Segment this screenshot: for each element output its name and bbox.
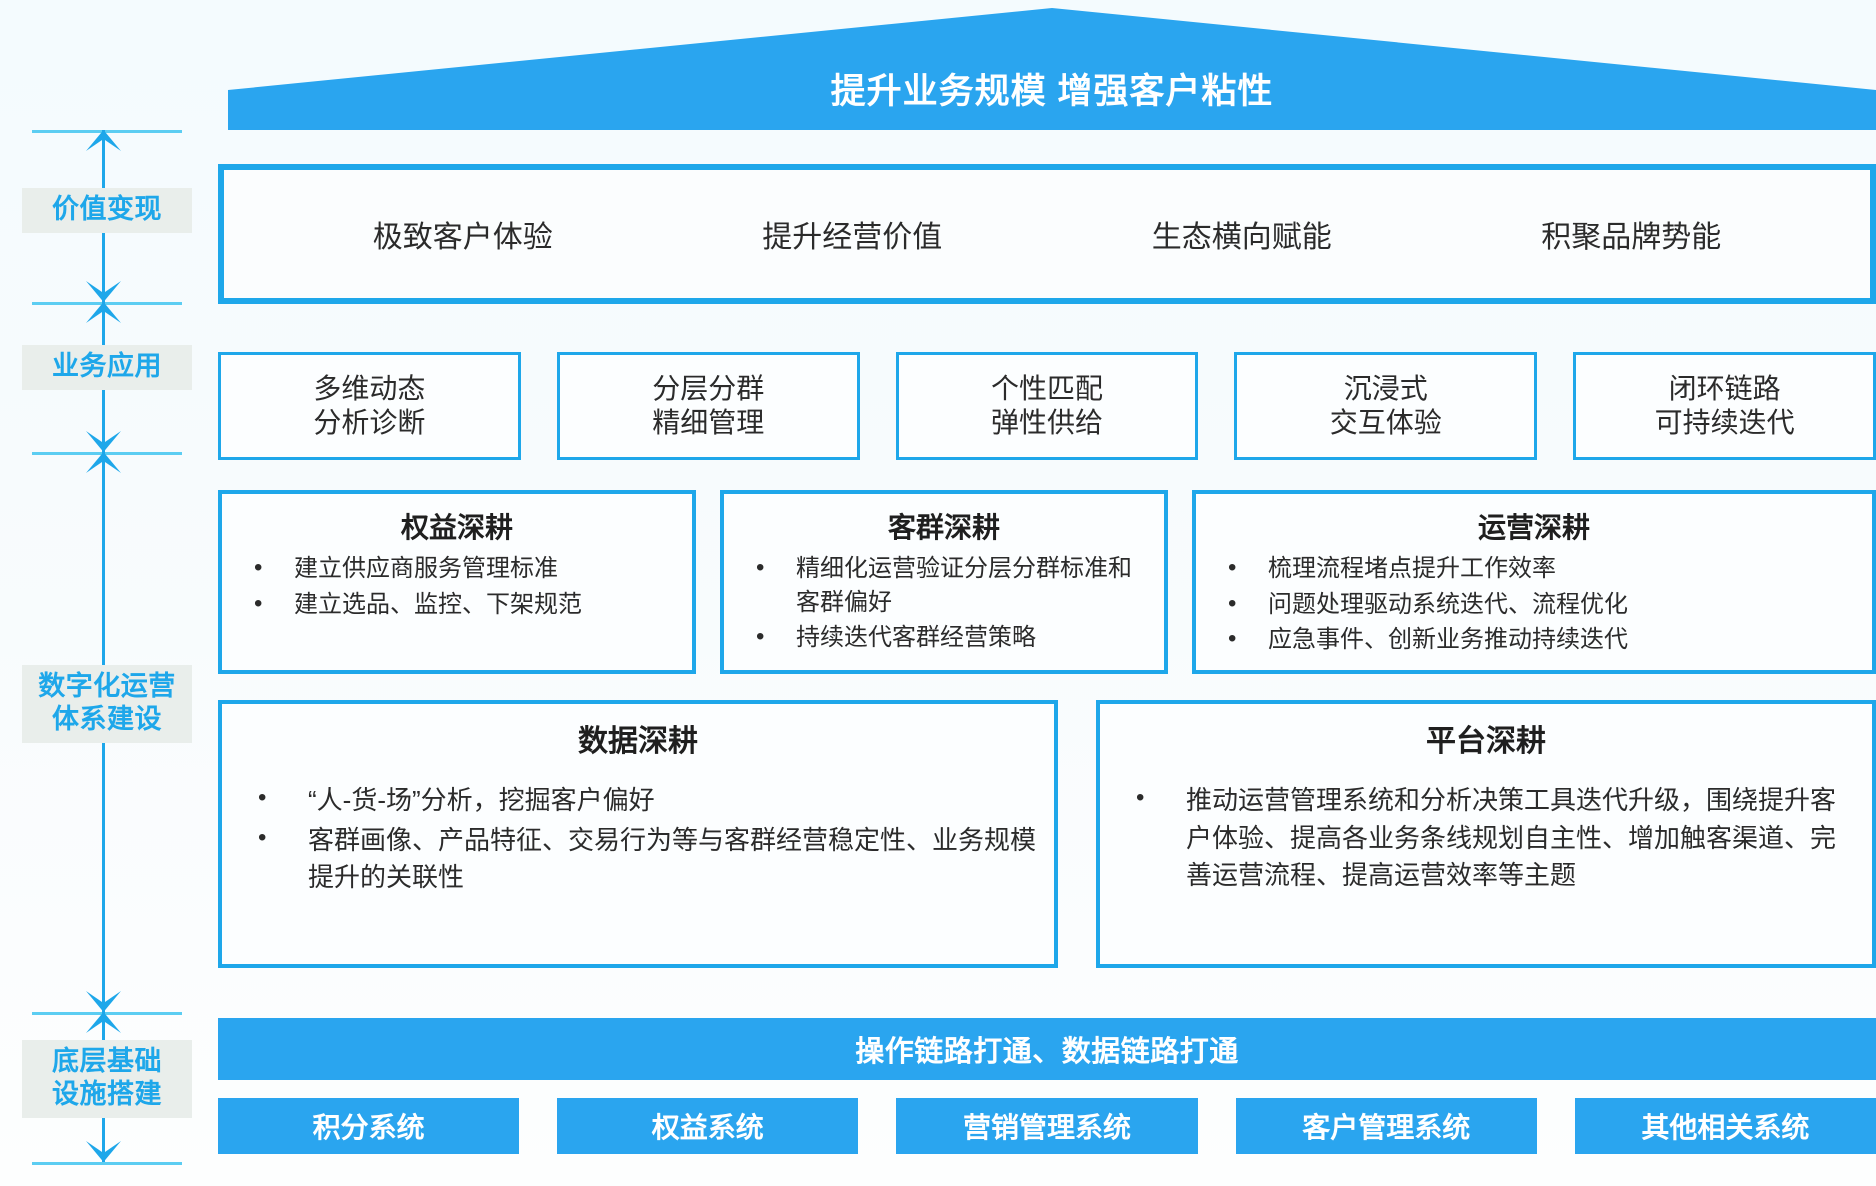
system-chip-row: 积分系统 权益系统 营销管理系统 客户管理系统 其他相关系统 xyxy=(218,1098,1876,1154)
arrow-down-icon xyxy=(85,430,122,452)
axis-label-line-1: 底层基础 xyxy=(22,1045,192,1078)
axis-label-digital-operations: 数字化运营 体系建设 xyxy=(22,665,192,743)
deep-box-customer-group[interactable]: 客群深耕 精细化运营验证分层分群标准和客群偏好 持续迭代客群经营策略 xyxy=(720,490,1168,674)
arrow-up-icon xyxy=(85,1012,122,1034)
app-box-line-2: 可持续迭代 xyxy=(1655,406,1795,440)
value-realization-bar: 极致客户体验 提升经营价值 生态横向赋能 积聚品牌势能 xyxy=(218,164,1876,304)
arrow-down-icon xyxy=(85,990,122,1012)
business-application-row: 多维动态 分析诊断 分层分群 精细管理 个性匹配 弹性供给 沉浸式 交互体验 闭… xyxy=(218,352,1876,460)
diagram-canvas: 提升业务规模 增强客户粘性 价值变现 xyxy=(0,0,1876,1186)
bullet-item: 持续迭代客群经营策略 xyxy=(738,621,1150,655)
bullet-item: 客群画像、产品特征、交易行为等与客群经营稳定性、业务规模提升的关联性 xyxy=(236,822,1040,897)
app-box-closed-loop-iteration[interactable]: 闭环链路 可持续迭代 xyxy=(1573,352,1876,460)
app-box-line-2: 分析诊断 xyxy=(313,406,425,440)
app-box-line-1: 闭环链路 xyxy=(1669,372,1781,406)
axis-label-infrastructure: 底层基础 设施搭建 xyxy=(22,1040,192,1118)
system-chip-rights[interactable]: 权益系统 xyxy=(557,1098,858,1154)
infrastructure-headline-bar: 操作链路打通、数据链路打通 xyxy=(218,1018,1876,1080)
bullet-item: 建立选品、监控、下架规范 xyxy=(236,588,678,622)
deep-box-operations[interactable]: 运营深耕 梳理流程堵点提升工作效率 问题处理驱动系统迭代、流程优化 应急事件、创… xyxy=(1192,490,1876,674)
arrow-up-icon xyxy=(85,130,122,152)
deep-box-rights[interactable]: 权益深耕 建立供应商服务管理标准 建立选品、监控、下架规范 xyxy=(218,490,696,674)
axis-label-line-2: 体系建设 xyxy=(22,703,192,736)
operation-deepening-row-1: 权益深耕 建立供应商服务管理标准 建立选品、监控、下架规范 客群深耕 精细化运营… xyxy=(218,490,1876,674)
app-box-line-1: 沉浸式 xyxy=(1344,372,1428,406)
deep-box-bullet-list: 建立供应商服务管理标准 建立选品、监控、下架规范 xyxy=(236,552,678,623)
arrow-up-icon xyxy=(85,302,122,324)
infrastructure-headline: 操作链路打通、数据链路打通 xyxy=(855,1028,1239,1070)
bullet-item: 梳理流程堵点提升工作效率 xyxy=(1210,552,1858,586)
operation-deepening-row-2: 数据深耕 “人-货-场”分析，挖掘客户偏好 客群画像、产品特征、交易行为等与客群… xyxy=(218,700,1876,968)
axis-rule-bottom xyxy=(32,1162,182,1165)
deep-box-platform[interactable]: 平台深耕 推动运营管理系统和分析决策工具迭代升级，围绕提升客户体验、提高各业务条… xyxy=(1096,700,1876,968)
bullet-item: 精细化运营验证分层分群标准和客群偏好 xyxy=(738,552,1150,619)
value-item-4: 积聚品牌势能 xyxy=(1541,212,1721,256)
axis-label-line-1: 数字化运营 xyxy=(22,670,192,703)
app-box-immersive-experience[interactable]: 沉浸式 交互体验 xyxy=(1234,352,1537,460)
value-item-1: 极致客户体验 xyxy=(373,212,553,256)
app-box-multi-dimensional-analysis[interactable]: 多维动态 分析诊断 xyxy=(218,352,521,460)
deep-box-bullet-list: 梳理流程堵点提升工作效率 问题处理驱动系统迭代、流程优化 应急事件、创新业务推动… xyxy=(1210,552,1858,659)
bullet-item: 建立供应商服务管理标准 xyxy=(236,552,678,586)
deep-box-title: 客群深耕 xyxy=(738,506,1150,546)
diagram-main-column: 极致客户体验 提升经营价值 生态横向赋能 积聚品牌势能 多维动态 分析诊断 分层… xyxy=(218,0,1876,1186)
system-chip-label: 营销管理系统 xyxy=(963,1106,1131,1146)
deep-box-bullet-list: 精细化运营验证分层分群标准和客群偏好 持续迭代客群经营策略 xyxy=(738,552,1150,657)
deep-box-bullet-list: “人-货-场”分析，挖掘客户偏好 客群画像、产品特征、交易行为等与客群经营稳定性… xyxy=(236,782,1040,899)
app-box-line-2: 交互体验 xyxy=(1330,406,1442,440)
app-box-line-2: 精细管理 xyxy=(652,406,764,440)
bullet-item: “人-货-场”分析，挖掘客户偏好 xyxy=(236,782,1040,820)
value-item-2: 提升经营价值 xyxy=(762,212,942,256)
arrow-down-icon xyxy=(85,280,122,302)
axis-label-line-2: 设施搭建 xyxy=(22,1078,192,1111)
system-chip-marketing[interactable]: 营销管理系统 xyxy=(896,1098,1197,1154)
system-chip-other[interactable]: 其他相关系统 xyxy=(1575,1098,1876,1154)
arrow-down-icon xyxy=(85,1140,122,1162)
axis-label-value-realization: 价值变现 xyxy=(22,188,192,233)
bullet-item: 应急事件、创新业务推动持续迭代 xyxy=(1210,623,1858,657)
deep-box-title: 权益深耕 xyxy=(236,506,678,546)
system-chip-label: 客户管理系统 xyxy=(1302,1106,1470,1146)
system-chip-label: 积分系统 xyxy=(313,1106,425,1146)
deep-box-title: 运营深耕 xyxy=(1210,506,1858,546)
axis-label-business-application: 业务应用 xyxy=(22,345,192,390)
system-chip-label: 其他相关系统 xyxy=(1641,1106,1809,1146)
value-item-3: 生态横向赋能 xyxy=(1152,212,1332,256)
app-box-line-1: 多维动态 xyxy=(313,372,425,406)
deep-box-data[interactable]: 数据深耕 “人-货-场”分析，挖掘客户偏好 客群画像、产品特征、交易行为等与客群… xyxy=(218,700,1058,968)
deep-box-bullet-list: 推动运营管理系统和分析决策工具迭代升级，围绕提升客户体验、提高各业务条线规划自主… xyxy=(1114,782,1858,897)
deep-box-title: 数据深耕 xyxy=(236,716,1040,760)
app-box-line-1: 个性匹配 xyxy=(991,372,1103,406)
app-box-line-1: 分层分群 xyxy=(652,372,764,406)
bullet-item: 问题处理驱动系统迭代、流程优化 xyxy=(1210,588,1858,622)
system-chip-points[interactable]: 积分系统 xyxy=(218,1098,519,1154)
arrow-up-icon xyxy=(85,452,122,474)
system-chip-customer[interactable]: 客户管理系统 xyxy=(1236,1098,1537,1154)
app-box-personalized-matching[interactable]: 个性匹配 弹性供给 xyxy=(896,352,1199,460)
app-box-line-2: 弹性供给 xyxy=(991,406,1103,440)
app-box-layered-segmentation[interactable]: 分层分群 精细管理 xyxy=(557,352,860,460)
layer-axis: 价值变现 业务应用 数字化运营 体系建设 xyxy=(14,130,196,1170)
system-chip-label: 权益系统 xyxy=(652,1106,764,1146)
deep-box-title: 平台深耕 xyxy=(1114,716,1858,760)
bullet-item: 推动运营管理系统和分析决策工具迭代升级，围绕提升客户体验、提高各业务条线规划自主… xyxy=(1114,782,1858,895)
